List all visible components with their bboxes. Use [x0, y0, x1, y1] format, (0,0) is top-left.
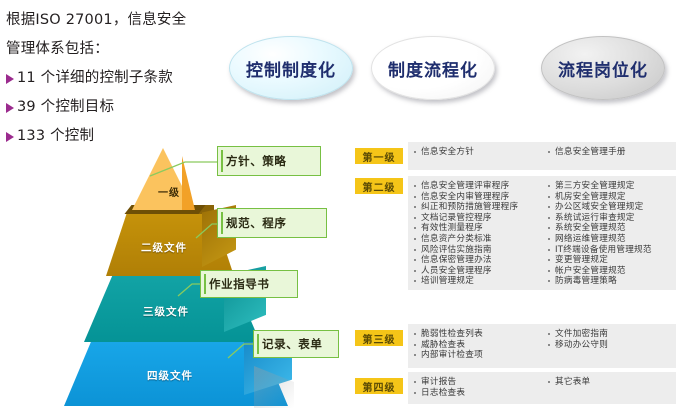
oval-control-systemization: 控制制度化 — [229, 36, 353, 100]
document-list-item: 文件加密指南 — [548, 329, 676, 340]
level-badge-1: 第一级 — [355, 148, 403, 164]
document-item-label: 信息安全管理评审程序 — [421, 181, 509, 192]
document-item-label: 系统安全管理规范 — [555, 223, 626, 234]
oval-label: 控制制度化 — [246, 56, 336, 81]
document-item-label: 文档记录管控程序 — [421, 213, 492, 224]
document-item-label: 信息安全方针 — [421, 147, 474, 158]
pyramid-tier-label: 一级 — [132, 184, 206, 199]
document-item-label: 威胁检查表 — [421, 340, 465, 351]
level4-document-panel: 审计报告日志检查表 其它表单 — [408, 372, 676, 404]
document-list-item: 日志检查表 — [414, 388, 542, 399]
document-item-label: 有效性测量程序 — [421, 223, 483, 234]
document-list-item: 防病毒管理策略 — [548, 276, 676, 287]
bullet-dot-icon — [548, 259, 550, 261]
bullet-dot-icon — [548, 381, 550, 383]
document-item-label: 信息资产分类标准 — [421, 234, 492, 245]
level-badge-label: 第二级 — [363, 179, 396, 194]
document-list-item: 审计报告 — [414, 377, 542, 388]
pyramid-tier-label: 四级文件 — [58, 368, 282, 383]
document-item-label: 纠正和预防措施管理程序 — [421, 202, 518, 213]
callout-spec-procedure: 规范、程序 — [217, 208, 327, 238]
document-list-item: 变更管理规定 — [548, 255, 676, 266]
pyramid-tier-level1: 一级 — [132, 148, 206, 210]
level3-right-column: 文件加密指南移动办公守则 — [542, 329, 676, 363]
document-item-label: 培训管理规定 — [421, 276, 474, 287]
bullet-dot-icon — [414, 381, 416, 383]
level3-left-column: 脆弱性检查列表威胁检查表内部审计检查项 — [408, 329, 542, 363]
level1-right-column: 信息安全管理手册 — [542, 147, 676, 165]
level-badge-4: 第四级 — [355, 378, 403, 394]
intro-bullet-item: 133 个控制 — [6, 122, 228, 151]
document-list-item: 纠正和预防措施管理程序 — [414, 202, 542, 213]
callout-label: 记录、表单 — [262, 336, 323, 352]
level-badge-2: 第二级 — [355, 178, 403, 194]
document-list-item: 培训管理规定 — [414, 276, 542, 287]
document-item-label: 内部审计检查项 — [421, 350, 483, 361]
document-item-label: 系统试运行审查规定 — [555, 213, 635, 224]
document-list-item: 第三方安全管理规定 — [548, 181, 676, 192]
bullet-dot-icon — [548, 196, 550, 198]
document-list-item: 办公区域安全管理规定 — [548, 202, 676, 213]
document-item-label: 帐户安全管理规范 — [555, 266, 626, 277]
bullet-dot-icon — [548, 151, 550, 153]
document-item-label: 其它表单 — [555, 377, 590, 388]
callout-label: 规范、程序 — [226, 215, 287, 231]
level2-right-column: 第三方安全管理规定机房安全管理规定办公区域安全管理规定系统试运行审查规定系统安全… — [542, 181, 676, 285]
document-item-label: IT终端设备使用管理规范 — [555, 245, 652, 256]
bullet-dot-icon — [548, 344, 550, 346]
document-list-item: 信息安全管理手册 — [548, 147, 676, 158]
document-item-label: 风险评估实施指南 — [421, 245, 492, 256]
level-badge-label: 第四级 — [363, 379, 396, 394]
document-item-label: 办公区域安全管理规定 — [555, 202, 643, 213]
document-item-label: 变更管理规定 — [555, 255, 608, 266]
bullet-dot-icon — [414, 249, 416, 251]
bullet-dot-icon — [414, 206, 416, 208]
intro-bullet-item: 39 个控制目标 — [6, 93, 228, 122]
document-item-label: 信息安全管理手册 — [555, 147, 626, 158]
bullet-dot-icon — [414, 151, 416, 153]
intro-text-block: 根据ISO 27001，信息安全 管理体系包括： 11 个详细的控制子条款 39… — [6, 6, 228, 151]
document-item-label: 日志检查表 — [421, 388, 465, 399]
bullet-dot-icon — [414, 238, 416, 240]
level-badge-label: 第三级 — [363, 331, 396, 346]
bullet-dot-icon — [414, 344, 416, 346]
intro-bullet-item: 11 个详细的控制子条款 — [6, 64, 228, 93]
document-list-item: 信息安全内审管理程序 — [414, 192, 542, 203]
intro-line: 管理体系包括： — [6, 35, 228, 64]
pyramid-tier-label: 二级文件 — [100, 240, 228, 255]
bullet-dot-icon — [414, 333, 416, 335]
document-list-item: 系统试运行审查规定 — [548, 213, 676, 224]
document-item-label: 人员安全管理程序 — [421, 266, 492, 277]
callout-record-form: 记录、表单 — [253, 330, 339, 358]
oval-system-processization: 制度流程化 — [371, 36, 495, 100]
document-list-item: 脆弱性检查列表 — [414, 329, 542, 340]
document-list-item: IT终端设备使用管理规范 — [548, 245, 676, 256]
document-list-item: 机房安全管理规定 — [548, 192, 676, 203]
level-badge-3: 第三级 — [355, 330, 403, 346]
intro-line-text: 管理体系包括： — [6, 41, 109, 57]
triangle-bullet-icon — [6, 103, 14, 113]
document-item-label: 信息安全内审管理程序 — [421, 192, 509, 203]
bullet-dot-icon — [548, 249, 550, 251]
level4-right-column: 其它表单 — [542, 377, 676, 399]
callout-label: 方针、策略 — [226, 153, 287, 169]
level4-left-column: 审计报告日志检查表 — [408, 377, 542, 399]
document-list-item: 网络运维管理规范 — [548, 234, 676, 245]
document-item-label: 移动办公守则 — [555, 340, 608, 351]
level2-left-column: 信息安全管理评审程序信息安全内审管理程序纠正和预防措施管理程序文档记录管控程序有… — [408, 181, 542, 285]
document-list-item: 威胁检查表 — [414, 340, 542, 351]
document-list-item: 其它表单 — [548, 377, 676, 388]
oval-label: 流程岗位化 — [558, 56, 648, 81]
level2-document-panel: 信息安全管理评审程序信息安全内审管理程序纠正和预防措施管理程序文档记录管控程序有… — [408, 176, 676, 290]
document-item-label: 网络运维管理规范 — [555, 234, 626, 245]
document-item-label: 防病毒管理策略 — [555, 276, 617, 287]
document-item-label: 第三方安全管理规定 — [555, 181, 635, 192]
bullet-dot-icon — [414, 227, 416, 229]
intro-line-text: 133 个控制 — [17, 122, 94, 151]
document-list-item: 信息安全管理评审程序 — [414, 181, 542, 192]
oval-process-rolization: 流程岗位化 — [541, 36, 665, 100]
bullet-dot-icon — [548, 280, 550, 282]
oval-label: 制度流程化 — [388, 56, 478, 81]
intro-line-text: 根据ISO 27001，信息安全 — [6, 12, 186, 28]
bullet-dot-icon — [414, 217, 416, 219]
triangle-bullet-icon — [6, 74, 14, 84]
callout-label: 作业指导书 — [209, 276, 270, 292]
level-badge-label: 第一级 — [363, 149, 396, 164]
document-list-item: 帐户安全管理规范 — [548, 266, 676, 277]
bullet-dot-icon — [548, 185, 550, 187]
document-list-item: 移动办公守则 — [548, 340, 676, 351]
intro-line-text: 39 个控制目标 — [17, 93, 114, 122]
bullet-dot-icon — [414, 270, 416, 272]
callout-work-instruction: 作业指导书 — [200, 270, 298, 298]
intro-line: 根据ISO 27001，信息安全 — [6, 6, 228, 35]
bullet-dot-icon — [414, 280, 416, 282]
bullet-dot-icon — [414, 259, 416, 261]
tier-side-face — [182, 156, 195, 210]
level1-document-panel: 信息安全方针 信息安全管理手册 — [408, 142, 676, 170]
bullet-dot-icon — [414, 185, 416, 187]
bullet-dot-icon — [548, 206, 550, 208]
document-list-item: 信息资产分类标准 — [414, 234, 542, 245]
bullet-dot-icon — [548, 333, 550, 335]
intro-line-text: 11 个详细的控制子条款 — [17, 64, 173, 93]
triangle-bullet-icon — [6, 132, 14, 142]
document-item-label: 脆弱性检查列表 — [421, 329, 483, 340]
bullet-dot-icon — [548, 217, 550, 219]
document-item-label: 文件加密指南 — [555, 329, 608, 340]
document-item-label: 审计报告 — [421, 377, 456, 388]
document-list-item: 风险评估实施指南 — [414, 245, 542, 256]
bullet-dot-icon — [414, 354, 416, 356]
bullet-dot-icon — [548, 227, 550, 229]
document-list-item: 有效性测量程序 — [414, 223, 542, 234]
document-item-label: 信息保密管理办法 — [421, 255, 492, 266]
callout-policy-strategy: 方针、策略 — [217, 146, 321, 176]
document-list-item: 内部审计检查项 — [414, 350, 542, 361]
slide-canvas: 根据ISO 27001，信息安全 管理体系包括： 11 个详细的控制子条款 39… — [0, 0, 678, 414]
document-list-item: 信息保密管理办法 — [414, 255, 542, 266]
bullet-dot-icon — [548, 270, 550, 272]
document-list-item: 人员安全管理程序 — [414, 266, 542, 277]
bullet-dot-icon — [548, 238, 550, 240]
document-list-item: 文档记录管控程序 — [414, 213, 542, 224]
bullet-dot-icon — [414, 392, 416, 394]
bullet-dot-icon — [414, 196, 416, 198]
document-list-item: 信息安全方针 — [414, 147, 542, 158]
level3-document-panel: 脆弱性检查列表威胁检查表内部审计检查项 文件加密指南移动办公守则 — [408, 324, 676, 368]
document-item-label: 机房安全管理规定 — [555, 192, 626, 203]
pyramid-tier-label: 三级文件 — [78, 304, 254, 319]
pyramid-tier-level2: 二级文件 — [106, 214, 234, 276]
document-list-item: 系统安全管理规范 — [548, 223, 676, 234]
level1-left-column: 信息安全方针 — [408, 147, 542, 165]
